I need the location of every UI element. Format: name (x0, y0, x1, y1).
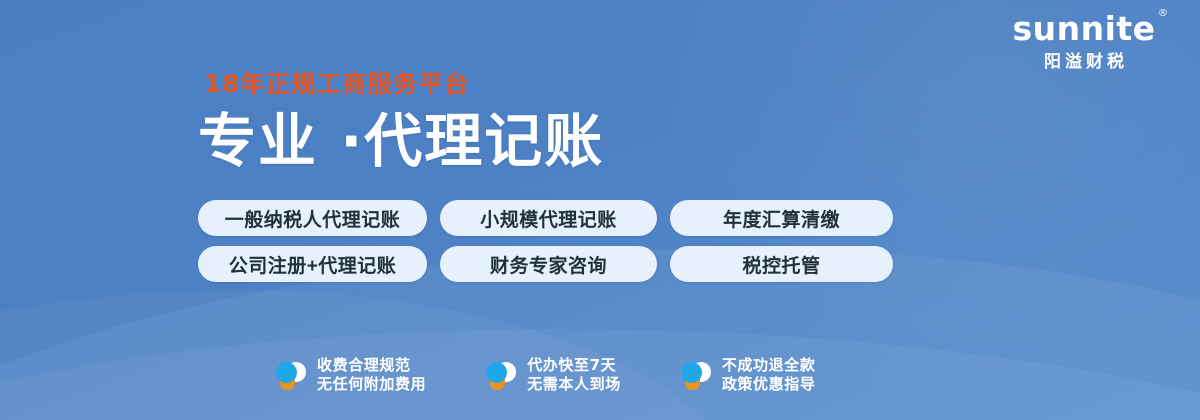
medal-icon (681, 360, 711, 390)
service-pill-small-scale-bookkeeping[interactable]: 小规模代理记账 (440, 200, 657, 236)
brand-wordmark: sunnite ® (1012, 12, 1155, 45)
service-pill-general-taxpayer-bookkeeping[interactable]: 一般纳税人代理记账 (198, 200, 427, 236)
medal-icon (486, 360, 516, 390)
brand-name-cn: 阳溢财税 (994, 53, 1174, 70)
feature-item-guarantee: 不成功退全款 政策优惠指导 (681, 356, 816, 394)
hero-copy: 18年正规工商服务平台 专业 ·代理记账 (198, 72, 958, 170)
brand-wordmark-text: sunnite (1012, 9, 1155, 48)
feature-text: 收费合理规范 无任何附加费用 (317, 356, 426, 394)
feature-line-2: 无任何附加费用 (317, 375, 426, 394)
feature-item-speed: 代办快至7天 无需本人到场 (486, 356, 621, 394)
registered-trademark-icon: ® (1158, 9, 1169, 19)
page-title: 专业 ·代理记账 (198, 112, 958, 170)
service-pill-row: 一般纳税人代理记账 小规模代理记账 年度汇算清缴 (198, 200, 918, 236)
medal-icon (276, 360, 306, 390)
feature-item-pricing: 收费合理规范 无任何附加费用 (276, 356, 426, 394)
feature-strip: 收费合理规范 无任何附加费用 代办快至7天 无需本人到场 不成功退全款 (276, 356, 815, 394)
service-pill-finance-expert-consulting[interactable]: 财务专家咨询 (440, 246, 657, 282)
feature-text: 不成功退全款 政策优惠指导 (722, 356, 816, 394)
brand-logo[interactable]: sunnite ® 阳溢财税 (994, 12, 1174, 70)
service-pill-group: 一般纳税人代理记账 小规模代理记账 年度汇算清缴 公司注册+代理记账 财务专家咨… (198, 200, 918, 282)
hero-eyebrow: 18年正规工商服务平台 (204, 72, 958, 96)
feature-line-2: 政策优惠指导 (722, 375, 816, 394)
feature-line-1: 代办快至7天 (527, 356, 621, 375)
feature-line-1: 不成功退全款 (722, 356, 816, 375)
feature-text: 代办快至7天 无需本人到场 (527, 356, 621, 394)
service-pill-company-registration-bookkeeping[interactable]: 公司注册+代理记账 (198, 246, 427, 282)
feature-line-1: 收费合理规范 (317, 356, 426, 375)
promo-banner: sunnite ® 阳溢财税 18年正规工商服务平台 专业 ·代理记账 一般纳税… (0, 0, 1200, 420)
feature-line-2: 无需本人到场 (527, 375, 621, 394)
service-pill-row: 公司注册+代理记账 财务专家咨询 税控托管 (198, 246, 918, 282)
service-pill-tax-control-custody[interactable]: 税控托管 (670, 246, 893, 282)
service-pill-annual-settlement[interactable]: 年度汇算清缴 (670, 200, 893, 236)
